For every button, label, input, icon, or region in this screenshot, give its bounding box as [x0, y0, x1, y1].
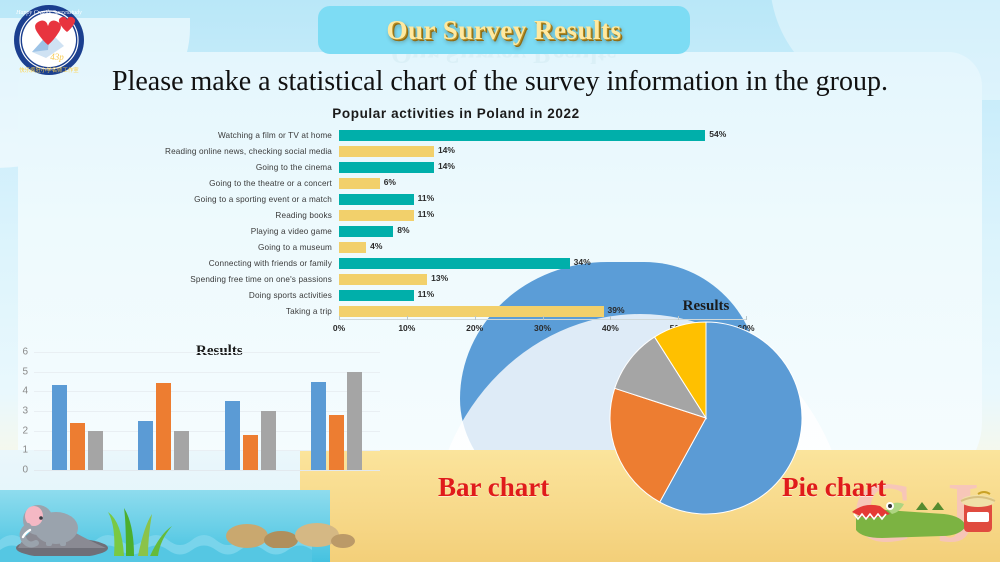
- vbar-bar: [88, 431, 103, 470]
- hbar-row: Playing a video game8%: [86, 223, 746, 239]
- hbar-value-label: 14%: [438, 161, 455, 171]
- hbar-category-label: Going to the theatre or a concert: [86, 179, 339, 188]
- hbar-bar: [339, 210, 414, 221]
- slide-canvas: C J Happy Crazily Successtudy 快乐疯狂小学名师工作…: [0, 0, 1000, 562]
- vbar-y-axis: 0123456: [10, 352, 32, 470]
- hbar-bar: [339, 258, 570, 269]
- hbar-category-label: Taking a trip: [86, 307, 339, 316]
- hbar-rows: Watching a film or TV at home54%Reading …: [86, 127, 746, 319]
- hbar-tick-label: 30%: [534, 323, 551, 333]
- vbar-group: [138, 352, 189, 470]
- hbar-track: 34%: [339, 255, 746, 271]
- hbar-value-label: 11%: [418, 209, 435, 219]
- hbar-row: Watching a film or TV at home54%: [86, 127, 746, 143]
- vbar-group: [52, 352, 103, 470]
- hbar-value-label: 6%: [384, 177, 396, 187]
- vbar-y-tick-label: 6: [22, 347, 28, 358]
- hbar-row: Going to the cinema14%: [86, 159, 746, 175]
- hbar-category-label: Going to a museum: [86, 243, 339, 252]
- hbar-value-label: 11%: [418, 193, 435, 203]
- hbar-row: Reading books11%: [86, 207, 746, 223]
- hbar-row: Going to a sporting event or a match11%: [86, 191, 746, 207]
- pie-chart-title: Results: [608, 298, 804, 315]
- vbar-bar: [225, 401, 240, 470]
- hbar-row: Connecting with friends or family34%: [86, 255, 746, 271]
- hbar-value-label: 8%: [397, 225, 409, 235]
- hbar-track: 11%: [339, 207, 746, 223]
- svg-text:Happy Crazily Successtudy: Happy Crazily Successtudy: [15, 10, 82, 16]
- vbar-bar: [156, 383, 171, 470]
- hbar-category-label: Going to the cinema: [86, 163, 339, 172]
- popular-activities-chart: Popular activities in Poland in 2022 Wat…: [86, 106, 746, 356]
- vbar-y-tick-label: 1: [22, 445, 28, 456]
- results-pie-chart: [608, 320, 804, 516]
- hbar-value-label: 13%: [431, 273, 448, 283]
- hbar-bar: [339, 274, 427, 285]
- vbar-bar: [261, 411, 276, 470]
- vbar-bar: [243, 435, 258, 470]
- hbar-category-label: Watching a film or TV at home: [86, 131, 339, 140]
- hbar-bar: [339, 146, 434, 157]
- hbar-category-label: Connecting with friends or family: [86, 259, 339, 268]
- slide-title-text: Our Survey Results: [386, 15, 621, 46]
- vbar-y-tick-label: 2: [22, 425, 28, 436]
- vbar-bar: [138, 421, 153, 470]
- elephant-decoration: [14, 480, 110, 556]
- grass-decoration: [100, 500, 190, 556]
- hbar-bar: [339, 306, 604, 317]
- hbar-category-label: Spending free time on one's passions: [86, 275, 339, 284]
- slide-title-banner: Our Survey Results: [318, 6, 690, 54]
- hbar-row: Going to the theatre or a concert6%: [86, 175, 746, 191]
- hbar-tick-label: 0%: [333, 323, 345, 333]
- vbar-plot: 0123456: [10, 352, 380, 484]
- svg-text:43p: 43p: [50, 52, 64, 62]
- hbar-bar: [339, 162, 434, 173]
- hbar-bar: [339, 242, 366, 253]
- bar-chart-caption: Bar chart: [438, 472, 549, 503]
- hbar-tick-mark: [475, 316, 476, 320]
- hbar-track: 13%: [339, 271, 746, 287]
- hbar-bar: [339, 194, 414, 205]
- hbar-value-label: 11%: [418, 289, 435, 299]
- hbar-track: 14%: [339, 143, 746, 159]
- pie-chart-caption: Pie chart: [782, 472, 886, 503]
- vbar-bar: [174, 431, 189, 470]
- vbar-y-tick-label: 0: [22, 465, 28, 476]
- vbar-y-tick-label: 3: [22, 406, 28, 417]
- hbar-row: Spending free time on one's passions13%: [86, 271, 746, 287]
- hbar-category-label: Playing a video game: [86, 227, 339, 236]
- vbar-y-tick-label: 5: [22, 366, 28, 377]
- hbar-category-label: Reading books: [86, 211, 339, 220]
- vbar-bar: [329, 415, 344, 470]
- hbar-bar: [339, 178, 380, 189]
- hbar-bar: [339, 290, 414, 301]
- vbar-group: [311, 352, 362, 470]
- hbar-track: 6%: [339, 175, 746, 191]
- hbar-tick-label: 20%: [466, 323, 483, 333]
- hbar-row: Reading online news, checking social med…: [86, 143, 746, 159]
- hbar-value-label: 54%: [709, 129, 726, 139]
- jam-jar-decoration: [956, 488, 1000, 534]
- hbar-track: 14%: [339, 159, 746, 175]
- vbar-bar: [70, 423, 85, 470]
- hbar-category-label: Doing sports activities: [86, 291, 339, 300]
- hbar-row: Going to a museum4%: [86, 239, 746, 255]
- hbar-track: 8%: [339, 223, 746, 239]
- hbar-track: 11%: [339, 191, 746, 207]
- hbar-value-label: 34%: [574, 257, 591, 267]
- hbar-chart-title: Popular activities in Poland in 2022: [166, 106, 746, 121]
- hbar-track: 54%: [339, 127, 746, 143]
- hbar-bar: [339, 226, 393, 237]
- hbar-tick-mark: [407, 316, 408, 320]
- rocks-decoration: [225, 510, 355, 548]
- hbar-category-label: Reading online news, checking social med…: [86, 147, 339, 156]
- hbar-bar: [339, 130, 705, 141]
- vbar-bar: [311, 382, 326, 471]
- slide-heading: Please make a statistical chart of the s…: [0, 66, 1000, 98]
- hbar-track: 4%: [339, 239, 746, 255]
- hbar-tick-mark: [543, 316, 544, 320]
- hbar-tick-label: 10%: [398, 323, 415, 333]
- vbar-y-tick-label: 4: [22, 386, 28, 397]
- grouped-bar-chart: 0123456: [10, 352, 380, 484]
- vbar-baseline: [34, 470, 380, 471]
- vbar-bar: [52, 385, 67, 470]
- vbar-bar: [347, 372, 362, 470]
- hbar-value-label: 4%: [370, 241, 382, 251]
- vbar-groups: [34, 352, 380, 470]
- hbar-tick-mark: [339, 316, 340, 320]
- hbar-category-label: Going to a sporting event or a match: [86, 195, 339, 204]
- pie-svg: [608, 320, 804, 516]
- vbar-group: [225, 352, 276, 470]
- hbar-value-label: 14%: [438, 145, 455, 155]
